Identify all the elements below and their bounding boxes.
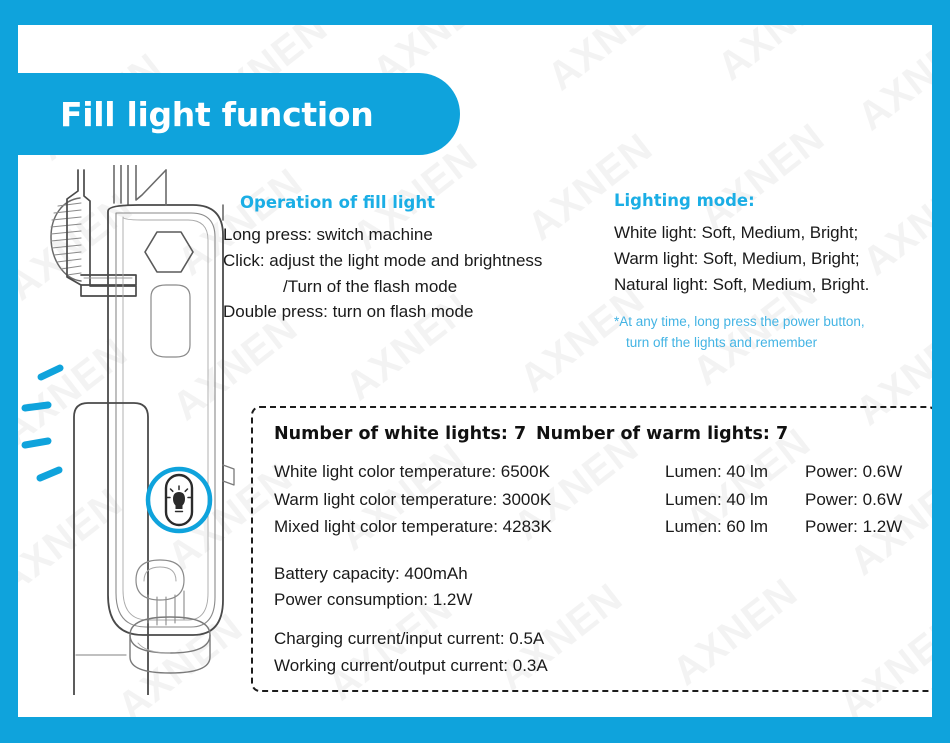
lighting-mode-heading: Lighting mode: <box>614 191 932 210</box>
light-rays-icon <box>25 368 60 478</box>
spec-temperature: Mixed light color temperature: 4283K <box>274 513 665 541</box>
lighting-mode-line: White light: Soft, Medium, Bright; <box>614 220 932 246</box>
operation-line: Click: adjust the light mode and brightn… <box>223 248 613 274</box>
spec-power: Power: 0.6W <box>805 458 932 486</box>
hexagon-detail <box>145 232 193 272</box>
watermark-text: AXNEN <box>710 25 852 90</box>
specifications-box: Number of white lights: 7 Number of warm… <box>251 406 932 692</box>
spec-row: Warm light color temperature: 3000K Lume… <box>274 486 932 514</box>
white-lights-count: Number of white lights: 7 <box>274 424 536 444</box>
page-title-banner: Fill light function <box>18 73 460 155</box>
lighting-mode-section: Lighting mode: White light: Soft, Medium… <box>614 191 932 353</box>
lighting-mode-line: Natural light: Soft, Medium, Bright. <box>614 272 932 298</box>
spec-bottom-group: Battery capacity: 400mAh Power consumpti… <box>274 561 932 680</box>
power-consumption: Power consumption: 1.2W <box>274 587 932 614</box>
product-illustration <box>18 165 258 695</box>
base-stand <box>130 560 210 673</box>
operation-heading: Operation of fill light <box>240 193 613 212</box>
watermark-text: AXNEN <box>540 25 682 100</box>
watermark-text: AXNEN <box>850 25 932 140</box>
operation-section: Operation of fill light Long press: swit… <box>223 193 613 325</box>
battery-capacity: Battery capacity: 400mAh <box>274 561 932 588</box>
operation-line: Double press: turn on flash mode <box>223 299 613 325</box>
spec-row: White light color temperature: 6500K Lum… <box>274 458 932 486</box>
spec-lumen: Lumen: 40 lm <box>665 458 805 486</box>
charging-current: Charging current/input current: 0.5A <box>274 626 932 653</box>
page-title: Fill light function <box>18 95 373 134</box>
infographic-page: AXNEN AXNEN AXNEN AXNEN AXNEN AXNEN AXNE… <box>0 0 950 743</box>
operation-line: Long press: switch machine <box>223 222 613 248</box>
spec-temperature: White light color temperature: 6500K <box>274 458 665 486</box>
lighting-mode-line: Warm light: Soft, Medium, Bright; <box>614 246 932 272</box>
content-card: AXNEN AXNEN AXNEN AXNEN AXNEN AXNEN AXNE… <box>18 25 932 717</box>
working-current: Working current/output current: 0.3A <box>274 653 932 680</box>
spec-lumen: Lumen: 40 lm <box>665 486 805 514</box>
spec-power: Power: 0.6W <box>805 486 932 514</box>
lighting-mode-note: *At any time, long press the power butto… <box>614 312 932 353</box>
spec-headers: Number of white lights: 7 Number of warm… <box>274 424 932 444</box>
note-line-1: *At any time, long press the power butto… <box>614 314 865 329</box>
spec-power: Power: 1.2W <box>805 513 932 541</box>
power-button <box>166 475 192 525</box>
spec-row: Mixed light color temperature: 4283K Lum… <box>274 513 932 541</box>
knurled-wheel-icon <box>51 198 81 281</box>
warm-lights-count: Number of warm lights: 7 <box>536 424 788 444</box>
spec-temperature: Warm light color temperature: 3000K <box>274 486 665 514</box>
spec-lumen: Lumen: 60 lm <box>665 513 805 541</box>
note-line-2: turn off the lights and remember <box>614 333 932 353</box>
operation-line: /Turn of the flash mode <box>223 274 613 300</box>
